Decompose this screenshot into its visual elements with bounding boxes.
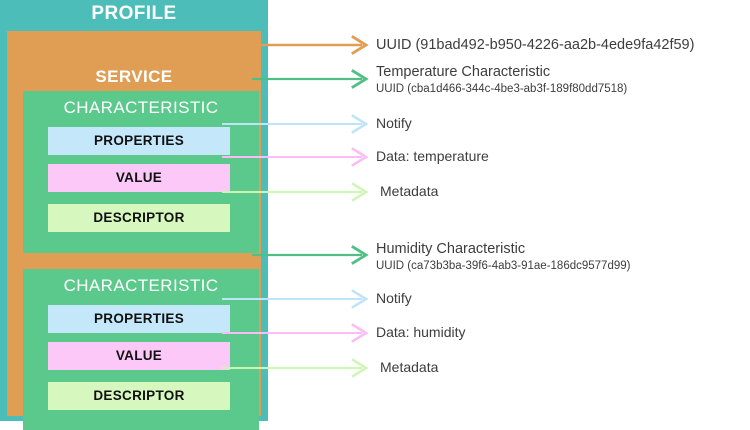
characteristic-humidity-annotation-uuid: UUID (ca73b3ba-39f6-4ab3-91ae-186dc9577d… — [376, 259, 630, 273]
connector-descriptor-temperature — [222, 184, 366, 200]
value-humidity-annotation: Data: humidity — [376, 324, 465, 340]
gatt-profile-diagram: PROFILE SERVICE CHARACTERISTIC PROPERTIE… — [0, 0, 750, 423]
connector-service — [260, 37, 366, 53]
connector-value-humidity — [222, 325, 366, 341]
connector-descriptor-humidity — [222, 360, 366, 376]
descriptor-temperature-annotation: Metadata — [380, 183, 438, 199]
characteristic-temperature-annotation-title: Temperature Characteristic — [376, 64, 550, 80]
value-temperature-annotation: Data: temperature — [376, 148, 489, 164]
service-uuid-annotation: UUID (91bad492-b950-4226-aa2b-4ede9fa42f… — [376, 37, 694, 53]
descriptor-humidity-annotation: Metadata — [380, 359, 438, 375]
connector-properties-temperature — [222, 116, 366, 132]
connector-value-temperature — [222, 149, 366, 165]
connector-characteristic-humidity — [252, 247, 366, 263]
connector-properties-humidity — [222, 291, 366, 307]
properties-temperature-annotation: Notify — [376, 115, 412, 131]
properties-humidity-annotation: Notify — [376, 290, 412, 306]
characteristic-temperature-annotation-uuid: UUID (cba1d466-344c-4be3-ab3f-189f80dd75… — [376, 82, 627, 96]
connector-arrows — [0, 0, 750, 423]
characteristic-humidity-annotation-title: Humidity Characteristic — [376, 241, 525, 257]
connector-characteristic-temperature — [252, 71, 366, 87]
